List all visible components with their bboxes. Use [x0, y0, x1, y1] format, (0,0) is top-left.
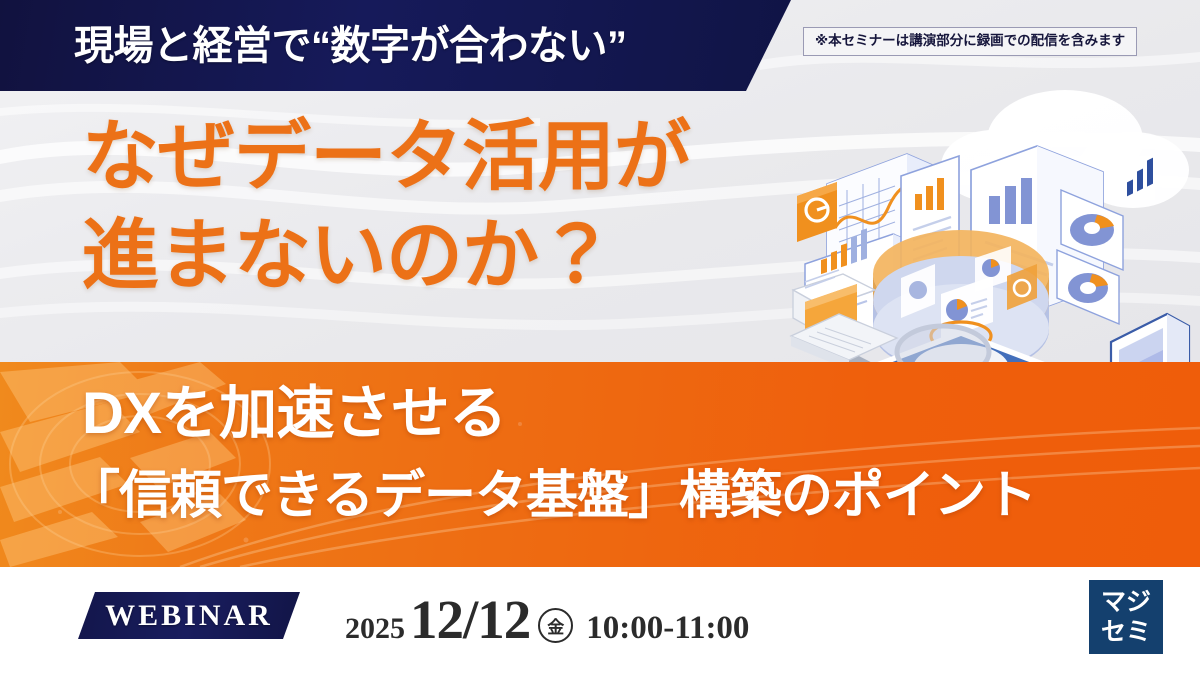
- event-year: 2025: [345, 612, 405, 646]
- webinar-banner: 現場と経営で“数字が合わない” ※本セミナーは講演部分に録画での配信を含みます …: [0, 0, 1200, 675]
- recording-note: ※本セミナーは講演部分に録画での配信を含みます: [803, 27, 1137, 56]
- webinar-badge-label: WEBINAR: [78, 592, 300, 639]
- orange-band-line-1: DXを加速させる: [82, 378, 982, 450]
- header-title: 現場と経営で“数字が合わない”: [74, 17, 774, 75]
- pie-chart-icon: [1070, 214, 1114, 246]
- headline-line-2: 進まないのか？: [82, 207, 842, 306]
- majiseminar-logo[interactable]: マジ セミ: [1089, 580, 1163, 654]
- main-headline: なぜデータ活用が 進まないのか？: [82, 108, 842, 306]
- event-day-of-week: 金: [538, 608, 573, 643]
- logo-line-2: セミ: [1101, 617, 1151, 647]
- event-time: 10:00-11:00: [586, 610, 749, 647]
- webinar-badge: WEBINAR: [78, 592, 300, 639]
- logo-line-1: マジ: [1101, 587, 1151, 617]
- event-date: 12/12: [410, 588, 530, 651]
- event-date-row: 2025 12/12 金 10:00-11:00: [345, 588, 749, 644]
- headline-line-1: なぜデータ活用が: [82, 108, 842, 207]
- orange-band-line-2: 「信頼できるデータ基盤」構築のポイント: [68, 463, 1068, 529]
- donut-chart-icon: [1068, 273, 1108, 303]
